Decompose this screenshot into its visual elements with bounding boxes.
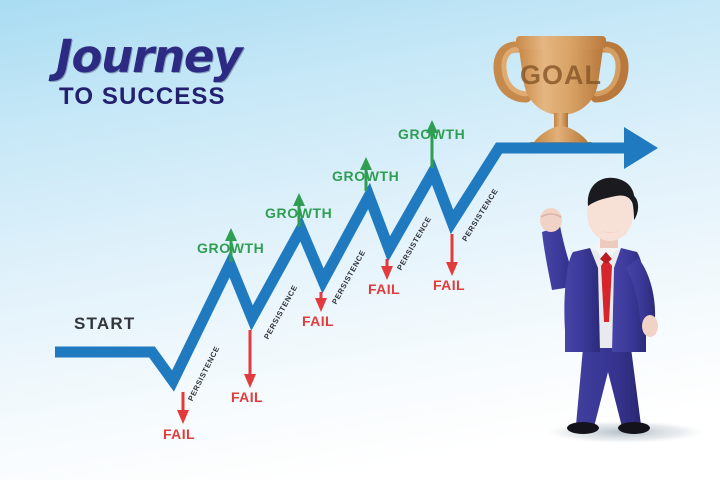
trophy-goal-text: GOAL — [520, 60, 602, 90]
label-growth: GROWTH — [332, 168, 399, 184]
label-fail: FAIL — [302, 313, 334, 329]
label-fail: FAIL — [433, 277, 465, 293]
shoe-left — [567, 422, 599, 434]
infographic-canvas: Journey TO SUCCESS — [0, 0, 720, 480]
label-growth: GROWTH — [265, 205, 332, 221]
shoe-right — [618, 422, 650, 434]
label-fail: FAIL — [163, 426, 195, 442]
label-start: START — [74, 314, 135, 334]
label-fail: FAIL — [231, 389, 263, 405]
journey-illustration: GOAL — [0, 0, 720, 480]
businessman-figure — [540, 178, 658, 434]
label-growth: GROWTH — [398, 126, 465, 142]
path-arrowhead — [624, 127, 658, 169]
label-fail: FAIL — [368, 281, 400, 297]
raised-fist — [540, 208, 562, 232]
fail-arrow — [381, 259, 393, 280]
fail-arrow — [446, 234, 458, 276]
fail-arrow — [315, 292, 327, 312]
hand-lowered — [642, 315, 658, 337]
label-growth: GROWTH — [197, 240, 264, 256]
goal-trophy: GOAL — [499, 36, 623, 150]
fail-arrow — [244, 330, 256, 388]
